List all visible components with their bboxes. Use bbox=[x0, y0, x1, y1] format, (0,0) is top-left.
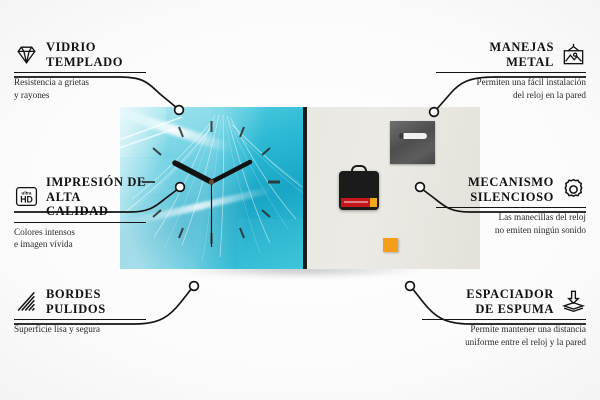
polished-edge-icon bbox=[14, 289, 39, 314]
hanger-slot bbox=[399, 133, 427, 139]
gear-icon bbox=[561, 177, 586, 202]
feature-rule bbox=[14, 222, 146, 223]
feature-desc-line2: uniforme entre el reloj y la pared bbox=[422, 336, 586, 348]
feature-rule bbox=[436, 72, 586, 73]
feature-rule bbox=[14, 319, 146, 320]
feature-desc-line1: Resistencia a grietas bbox=[14, 76, 146, 88]
feature-mecanismo-silencioso[interactable]: MECANISMO SILENCIOSO Las manecillas del … bbox=[436, 175, 586, 236]
feature-desc-line2: del reloj en la pared bbox=[436, 89, 586, 101]
clock-mechanism bbox=[339, 171, 379, 210]
feature-rule bbox=[436, 207, 586, 208]
feature-title-line2: TEMPLADO bbox=[46, 55, 123, 70]
ultra-hd-icon: ultra HD bbox=[14, 184, 39, 209]
feature-desc-line2: e imagen vívida bbox=[14, 238, 146, 250]
feature-title-line2: SILENCIOSO bbox=[468, 190, 554, 205]
feature-title-line1: IMPRESIÓN DE bbox=[46, 175, 146, 190]
clock-dial bbox=[120, 107, 303, 269]
svg-text:HD: HD bbox=[20, 195, 33, 205]
feature-impresion-alta-calidad[interactable]: ultra HD IMPRESIÓN DE ALTA CALIDAD Color… bbox=[14, 175, 146, 250]
feature-title-line2: METAL bbox=[489, 55, 554, 70]
connector-dot-espaciador bbox=[406, 282, 415, 291]
feature-title-line2: ALTA CALIDAD bbox=[46, 190, 146, 219]
feature-espaciador-espuma[interactable]: ESPACIADOR DE ESPUMA Permite mantener un… bbox=[422, 287, 586, 348]
feature-desc-line1: Permite mantener una distancia bbox=[422, 323, 586, 335]
feature-rule bbox=[14, 72, 146, 73]
feature-title-line2: DE ESPUMA bbox=[466, 302, 554, 317]
foam-spacer-icon bbox=[561, 289, 586, 314]
feature-desc-line2: y rayones bbox=[14, 89, 146, 101]
mechanism-loop bbox=[351, 165, 367, 174]
metal-hanger bbox=[390, 121, 435, 164]
feature-title-line1: MANEJAS bbox=[489, 40, 554, 55]
feature-desc-line1: Colores intensos bbox=[14, 226, 146, 238]
feature-title-line1: ESPACIADOR bbox=[466, 287, 554, 302]
feature-vidrio-templado[interactable]: VIDRIO TEMPLADO Resistencia a grietas y … bbox=[14, 40, 146, 101]
feature-rule bbox=[422, 319, 586, 320]
feature-manejas-metal[interactable]: MANEJAS METAL Permiten una fácil instala… bbox=[436, 40, 586, 101]
feature-desc-line1: Permiten una fácil instalación bbox=[436, 76, 586, 88]
hanging-frame-icon bbox=[561, 42, 586, 67]
clock-face-panel bbox=[120, 107, 303, 269]
feature-title-line1: MECANISMO bbox=[468, 175, 554, 190]
product-image bbox=[120, 107, 480, 269]
diamond-icon bbox=[14, 42, 39, 67]
feature-title-line1: VIDRIO bbox=[46, 40, 123, 55]
feature-desc-line2: no emiten ningún sonido bbox=[436, 224, 586, 236]
feature-title-line2: PULIDOS bbox=[46, 302, 106, 317]
feature-desc-line1: Las manecillas del reloj bbox=[436, 211, 586, 223]
feature-title-line1: BORDES bbox=[46, 287, 106, 302]
connector-dot-bordes bbox=[190, 282, 199, 291]
mechanism-label bbox=[341, 198, 377, 207]
foam-spacer bbox=[383, 238, 398, 252]
feature-bordes-pulidos[interactable]: BORDES PULIDOS Superficie lisa y segura bbox=[14, 287, 146, 336]
infographic-canvas: VIDRIO TEMPLADO Resistencia a grietas y … bbox=[0, 0, 600, 400]
feature-desc-line1: Superficie lisa y segura bbox=[14, 323, 146, 335]
